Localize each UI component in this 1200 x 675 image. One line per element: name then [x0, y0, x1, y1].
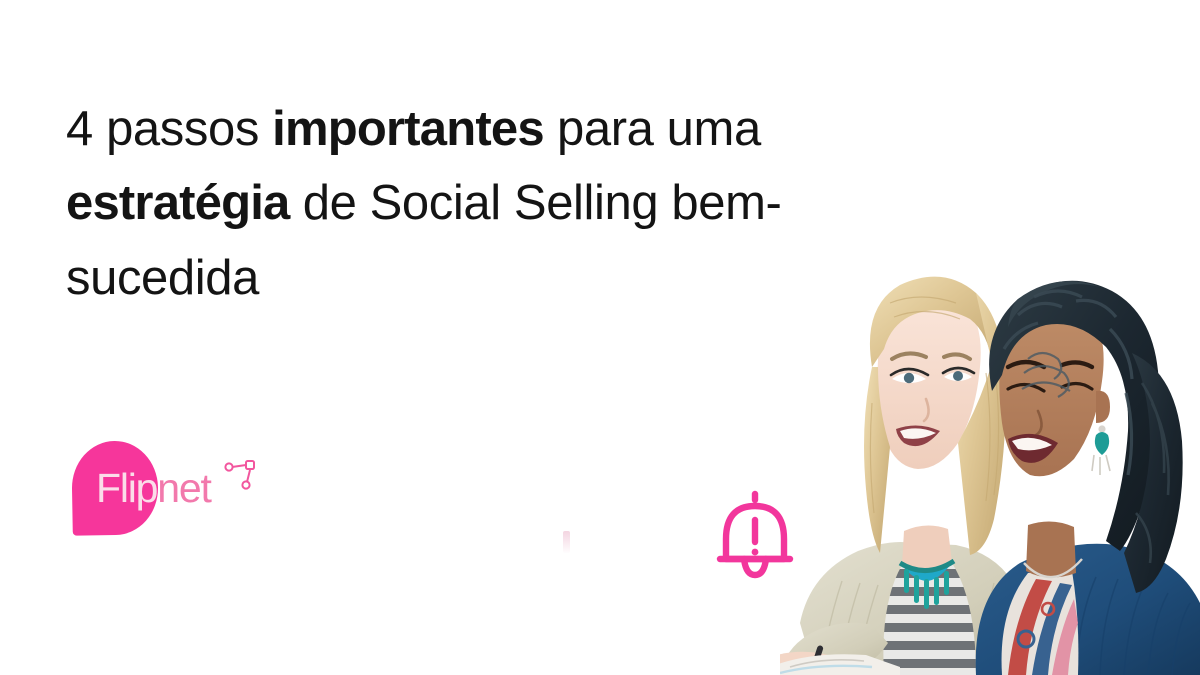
headline-line-3: sucedida — [66, 241, 1016, 315]
headline-seg-2-1-bold: estratégia — [66, 176, 290, 230]
social-media-banner: 4 passos importantes para uma estratégia… — [0, 0, 1200, 675]
headline-line-2: estratégia de Social Selling bem- — [66, 166, 1016, 240]
headline-seg-1-2-bold: importantes — [272, 102, 544, 156]
notification-bell-alert-icon — [714, 487, 796, 585]
headline-seg-3-1: sucedida — [66, 251, 259, 305]
headline-title: 4 passos importantes para uma estratégia… — [66, 92, 1016, 315]
network-nodes-icon — [220, 455, 262, 499]
logo-word-net: net — [157, 465, 210, 511]
braided-hair-woman — [976, 281, 1200, 675]
logo-wordmark: Flipnet — [96, 468, 211, 509]
notebook — [780, 654, 900, 675]
photo-subjects — [780, 263, 1200, 675]
blonde-woman — [780, 277, 1030, 675]
background-artifact — [563, 531, 570, 553]
headline-seg-1-1: 4 passos — [66, 102, 272, 156]
headline-seg-1-3: para uma — [544, 102, 761, 156]
people-photo — [780, 263, 1200, 675]
logo-word-flip: Flip — [96, 465, 157, 511]
headline-line-1: 4 passos importantes para uma — [66, 92, 1016, 166]
headline-seg-2-2: de Social Selling bem- — [290, 176, 782, 230]
flipnet-logo[interactable]: Flipnet — [72, 441, 262, 549]
